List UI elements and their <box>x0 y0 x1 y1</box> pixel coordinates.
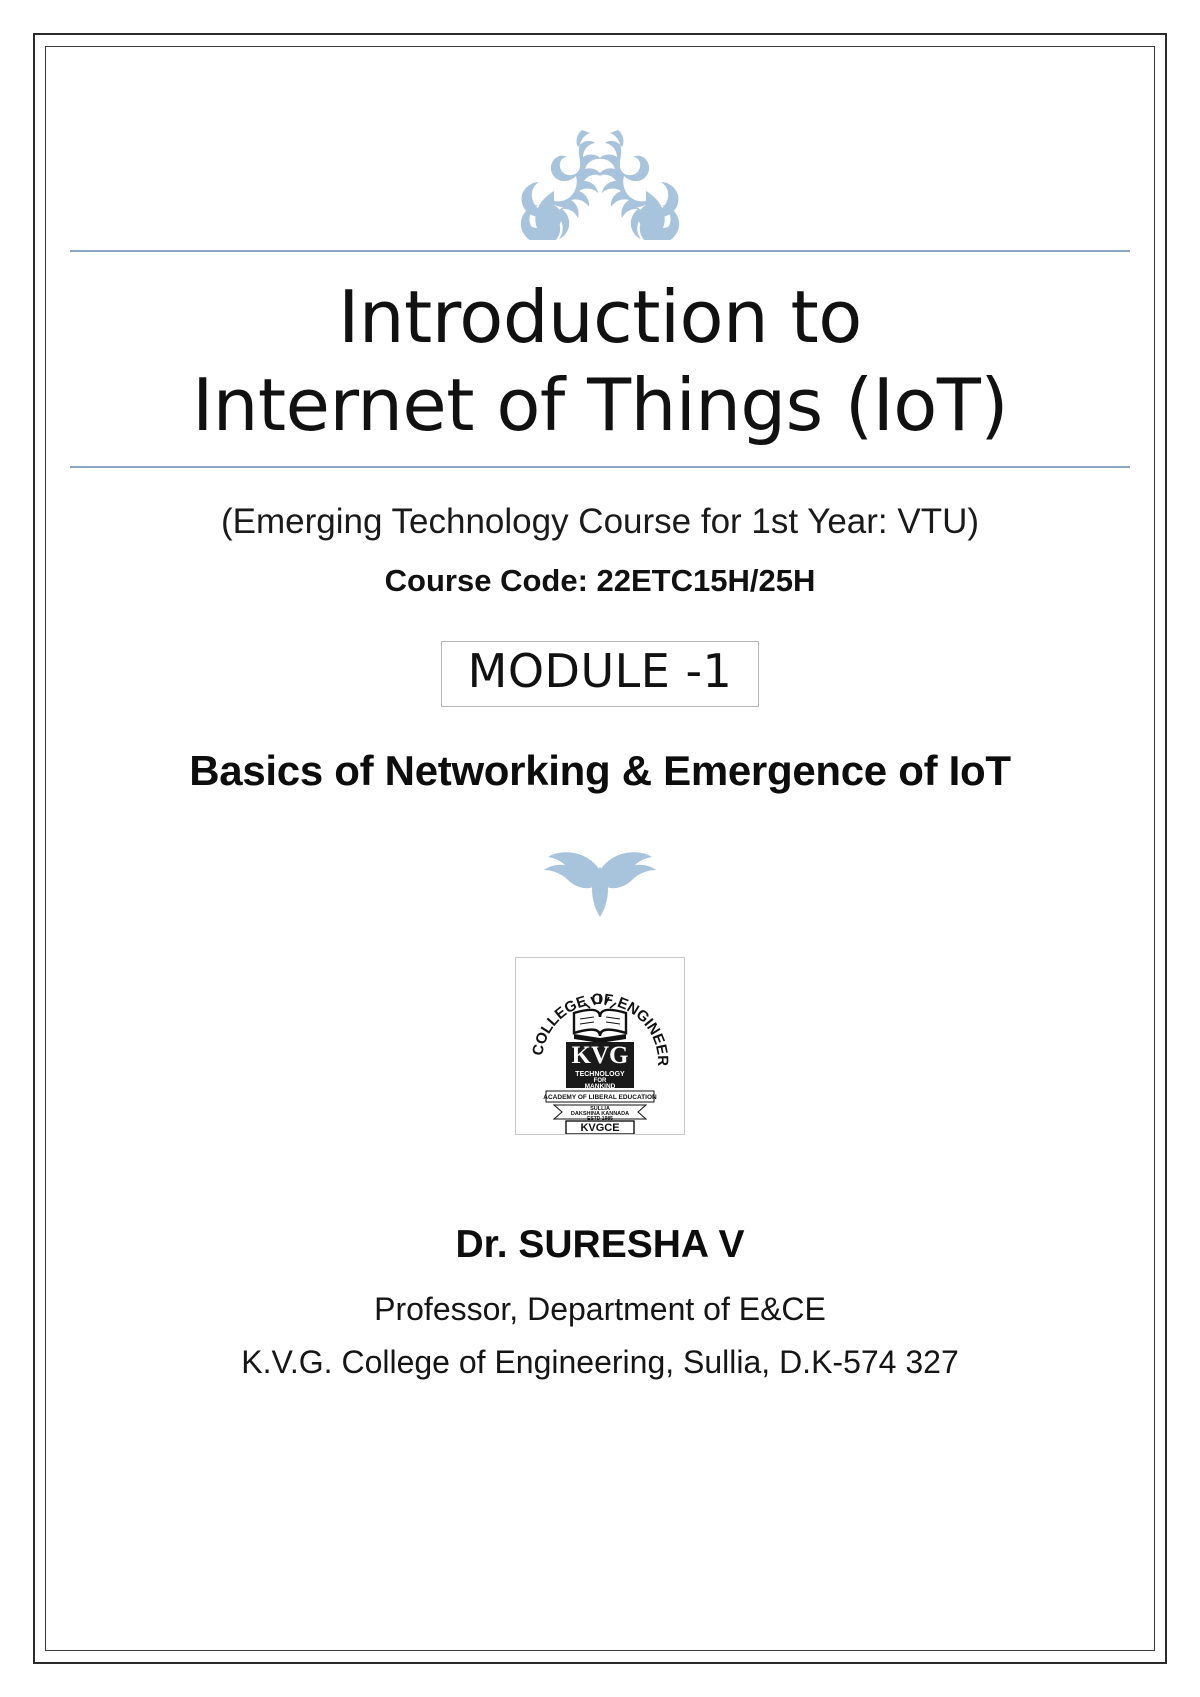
cover-page: Introduction to Internet of Things (IoT)… <box>0 0 1200 1697</box>
college-logo: KVG COLLEGE OF ENGINEERING <box>515 957 685 1135</box>
college-logo-wrapper: KVG COLLEGE OF ENGINEERING <box>70 957 1130 1135</box>
module-box: MODULE -1 <box>441 641 760 707</box>
module-box-wrapper: MODULE -1 <box>70 641 1130 707</box>
logo-banner-text: KVGCE <box>580 1122 619 1134</box>
logo-tagline-1: TECHNOLOGY <box>575 1071 625 1078</box>
author-institution: K.V.G. College of Engineering, Sullia, D… <box>70 1344 1130 1381</box>
logo-monogram: KVG <box>572 1042 629 1069</box>
page-title-line-2: Internet of Things (IoT) <box>70 362 1130 450</box>
title-block: Introduction to Internet of Things (IoT) <box>70 250 1130 468</box>
leaf-sprout-icon <box>70 837 1130 923</box>
logo-academy-text: ACADEMY OF LIBERAL EDUCATION <box>543 1094 657 1101</box>
logo-tagline-3: MANKIND <box>585 1083 616 1090</box>
author-role: Professor, Department of E&CE <box>70 1291 1130 1328</box>
page-title-line-1: Introduction to <box>70 274 1130 362</box>
filigree-flourish-icon <box>70 112 1130 242</box>
module-title: Basics of Networking & Emergence of IoT <box>70 747 1130 795</box>
author-name: Dr. SURESHA V <box>70 1223 1130 1267</box>
module-label: MODULE -1 <box>468 646 733 698</box>
page-content: Introduction to Internet of Things (IoT)… <box>70 60 1130 1637</box>
course-code: Course Code: 22ETC15H/25H <box>70 563 1130 599</box>
course-subtitle: (Emerging Technology Course for 1st Year… <box>70 500 1130 544</box>
